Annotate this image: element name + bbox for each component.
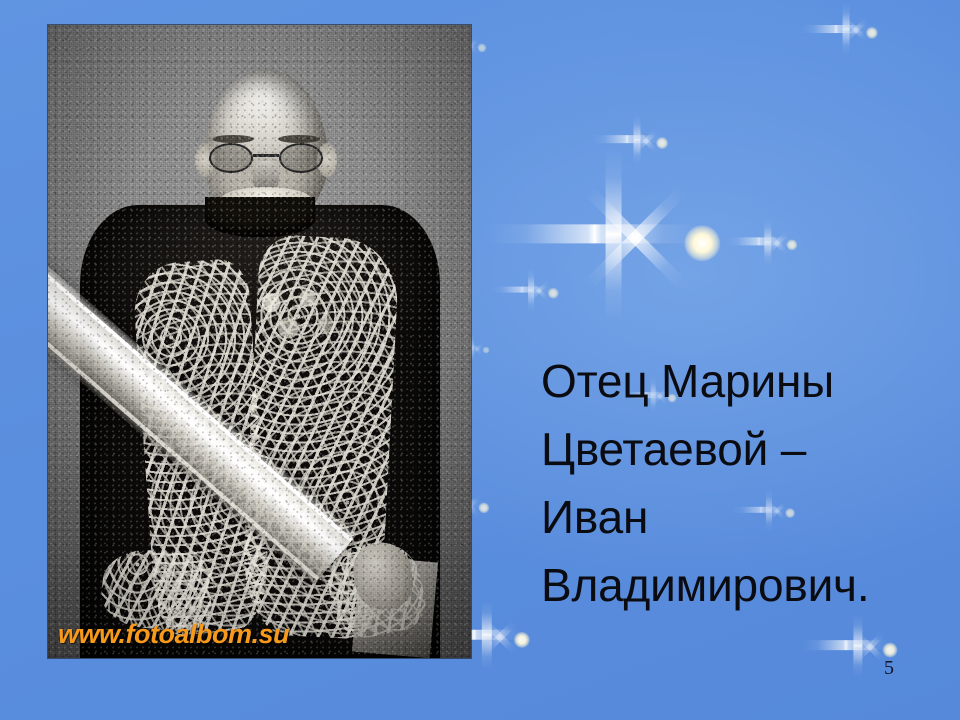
photo-backdrop <box>48 25 471 658</box>
page-number: 5 <box>884 657 894 680</box>
caption-line-2: Цветаевой – <box>541 415 951 483</box>
photo-vignette <box>48 25 471 658</box>
slide-canvas: www.fotoalbom.su Отец Марины Цветаевой –… <box>0 0 960 720</box>
caption-text-block: Отец Марины Цветаевой – Иван Владимирови… <box>541 347 951 619</box>
caption-line-1: Отец Марины <box>541 347 951 415</box>
caption-line-4: Владимирович. <box>541 551 951 619</box>
photo-watermark: www.fotoalbom.su <box>58 619 289 650</box>
portrait-photo: www.fotoalbom.su <box>48 25 471 658</box>
caption-line-3: Иван <box>541 483 951 551</box>
